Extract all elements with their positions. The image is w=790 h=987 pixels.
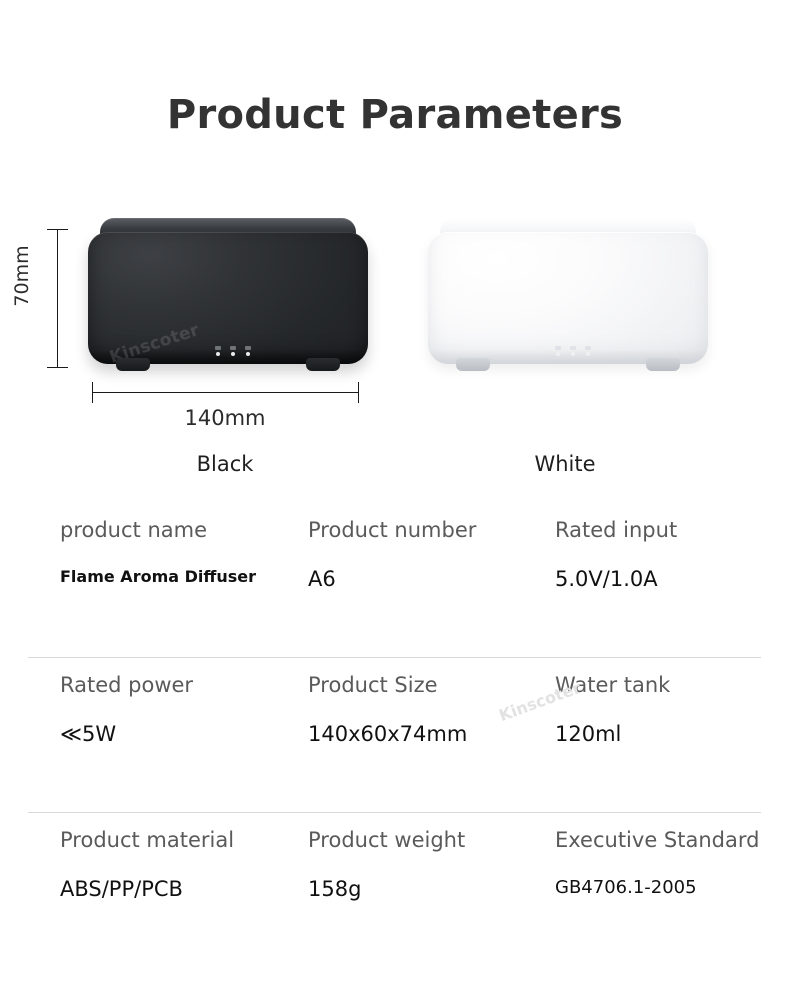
spec-label: Rated power [60,675,193,696]
led-indicator-group [555,346,591,356]
row-divider [28,657,761,658]
height-dimension-line [57,229,58,368]
device-body [428,232,708,364]
spec-value: Flame Aroma Diffuser [60,569,256,585]
spec-value: ≪5W [60,724,193,745]
led-indicator-2 [230,346,236,356]
height-dimension-cap-bottom [47,367,68,368]
height-dimension-cap-top [47,229,68,230]
led-dot-icon [586,352,590,356]
width-dimension-cap-left [92,382,93,403]
spec-cell-product-number: Product number A6 [308,520,476,590]
spec-cell-executive-standard: Executive Standard GB4706.1-2005 [555,830,759,897]
spec-label: Rated input [555,520,677,541]
table-row: Product material ABS/PP/PCB Product weig… [0,830,790,985]
spec-cell-rated-power: Rated power ≪5W [60,675,193,745]
led-dot-icon [216,352,220,356]
spec-cell-rated-input: Rated input 5.0V/1.0A [555,520,677,590]
spec-cell-product-weight: Product weight 158g [308,830,465,900]
led-dot-icon [571,352,575,356]
led-indicator-1 [555,346,561,356]
specifications-table: product name Flame Aroma Diffuser Produc… [0,520,790,985]
spec-label: Product number [308,520,476,541]
spec-value: GB4706.1-2005 [555,879,759,897]
device-foot-right [646,358,680,371]
spec-label: Product Size [308,675,467,696]
width-dimension-label: 140mm [92,406,358,430]
product-image-white [428,218,708,378]
spec-cell-product-name: product name Flame Aroma Diffuser [60,520,256,585]
product-image-black: Kinscoter [88,218,368,378]
led-dot-icon [556,352,560,356]
spec-value: 5.0V/1.0A [555,569,677,590]
led-dot-icon [231,352,235,356]
spec-label: Executive Standard [555,830,759,851]
device-foot-right [306,358,340,371]
color-caption-white: White [425,452,705,476]
led-indicator-2 [570,346,576,356]
spec-cell-product-material: Product material ABS/PP/PCB [60,830,234,900]
led-indicator-1 [215,346,221,356]
led-dot-icon [246,352,250,356]
spec-label: Product weight [308,830,465,851]
row-divider [28,812,761,813]
spec-value: 158g [308,879,465,900]
led-indicator-3 [245,346,251,356]
spec-value: A6 [308,569,476,590]
spec-value: 120ml [555,724,670,745]
product-showcase: 70mm 140mm Kinscoter [0,200,790,490]
width-dimension-cap-right [358,382,359,403]
spec-value: ABS/PP/PCB [60,879,234,900]
spec-label: product name [60,520,256,541]
page-title: Product Parameters [0,92,790,138]
spec-label: Product material [60,830,234,851]
led-mark-icon [245,346,251,350]
table-row: Rated power ≪5W Product Size 140x60x74mm… [0,675,790,830]
led-mark-icon [555,346,561,350]
device-foot-left [116,358,150,371]
color-caption-black: Black [85,452,365,476]
led-mark-icon [585,346,591,350]
led-mark-icon [230,346,236,350]
led-indicator-3 [585,346,591,356]
spec-value: 140x60x74mm [308,724,467,745]
width-dimension-line [92,392,358,393]
height-dimension-label: 70mm [11,236,33,316]
table-row: product name Flame Aroma Diffuser Produc… [0,520,790,675]
led-mark-icon [570,346,576,350]
device-foot-left [456,358,490,371]
led-mark-icon [215,346,221,350]
led-indicator-group [215,346,251,356]
spec-cell-product-size: Product Size 140x60x74mm [308,675,467,745]
